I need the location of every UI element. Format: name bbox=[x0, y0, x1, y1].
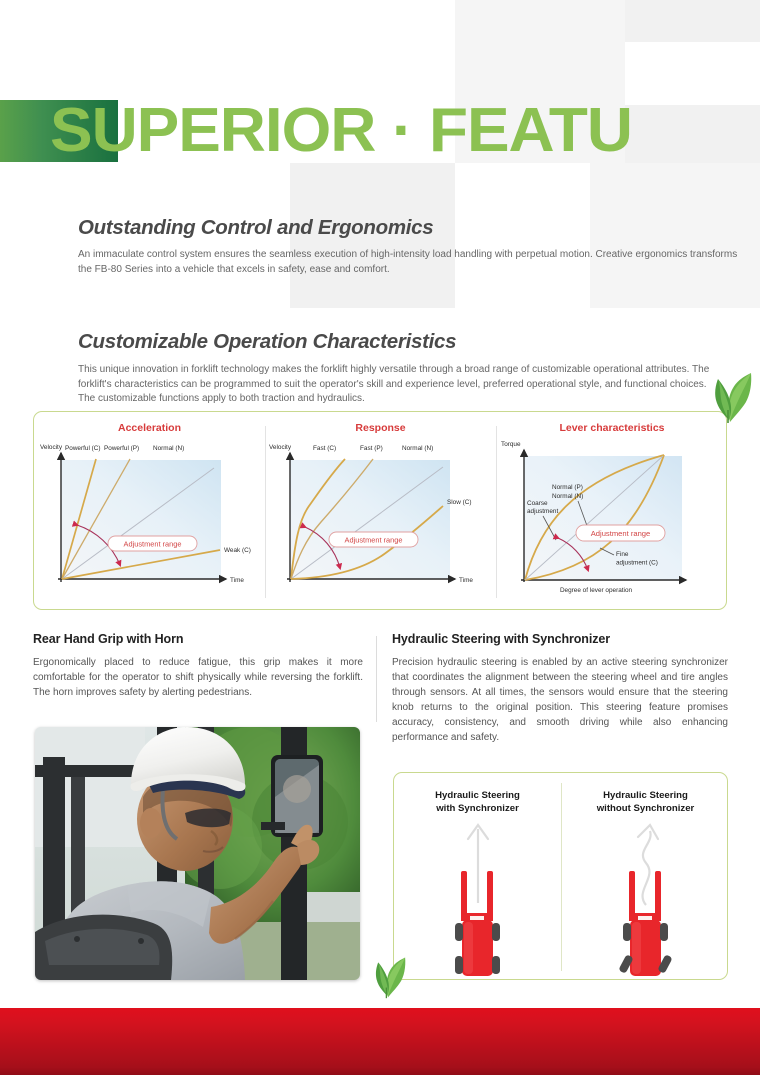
card-body: Precision hydraulic steering is enabled … bbox=[392, 655, 728, 745]
chart-lever-characteristics: Lever characteristics bbox=[496, 412, 728, 611]
card-heading: Hydraulic Steering with Synchronizer bbox=[392, 632, 728, 646]
leaf-icon bbox=[707, 370, 753, 429]
curve-label-fine-adjustment-2: adjustment (C) bbox=[616, 560, 658, 567]
section-body: This unique innovation in forklift techn… bbox=[78, 363, 718, 407]
card-rear-hand-grip: Rear Hand Grip with Horn Ergonomically p… bbox=[33, 632, 363, 700]
page-footer-bar bbox=[0, 1008, 760, 1075]
chart-response: Response bbox=[265, 412, 496, 611]
chart-acceleration-svg: Powerful (C) Powerful (P) Normal (N) Wea… bbox=[34, 412, 265, 611]
curve-label-fine-adjustment: Fine bbox=[616, 551, 629, 558]
y-axis-label: Velocity bbox=[269, 444, 292, 451]
section-body: An immaculate control system ensures the… bbox=[78, 248, 738, 277]
curve-label-normal-n: Normal (N) bbox=[552, 493, 583, 500]
section-outstanding-control: Outstanding Control and Ergonomics An im… bbox=[78, 216, 738, 277]
curve-label-normal-p: Normal (P) bbox=[552, 484, 583, 491]
customizable-characteristics-charts: Acceleration bbox=[33, 411, 727, 610]
curve-label-coarse-adjustment-2: adjustment bbox=[527, 508, 558, 515]
curve-label-powerful-p: Powerful (P) bbox=[104, 445, 139, 452]
chart-acceleration: Acceleration bbox=[34, 412, 265, 611]
curve-label-normal-n: Normal (N) bbox=[153, 445, 184, 452]
leaf-icon bbox=[368, 955, 408, 1004]
x-axis-label: Time bbox=[459, 577, 473, 584]
steer-panel-without-synchronizer: Hydraulic Steering without Synchronizer bbox=[562, 773, 729, 981]
steer-panel-with-synchronizer: Hydraulic Steering with Synchronizer bbox=[394, 773, 561, 981]
x-axis-label: Degree of lever operation bbox=[560, 587, 633, 594]
section-customizable-operation: Customizable Operation Characteristics T… bbox=[78, 330, 718, 407]
curve-label-fast-c: Fast (C) bbox=[313, 445, 336, 452]
y-axis-label: Velocity bbox=[40, 444, 63, 451]
section-heading: Customizable Operation Characteristics bbox=[78, 330, 718, 354]
card-heading: Rear Hand Grip with Horn bbox=[33, 632, 363, 646]
forklift-straight-svg bbox=[394, 773, 561, 981]
curve-label-weak-c: Weak (C) bbox=[224, 547, 251, 554]
chart-response-svg: Fast (C) Fast (P) Normal (N) Slow (C) Ve… bbox=[265, 412, 496, 611]
section-heading: Outstanding Control and Ergonomics bbox=[78, 216, 738, 240]
curve-label-normal-n: Normal (N) bbox=[402, 445, 433, 452]
curve-label-coarse-adjustment: Coarse bbox=[527, 500, 548, 507]
column-divider bbox=[376, 636, 377, 722]
forklift-wavy-svg bbox=[562, 773, 729, 981]
chart-annotation: Adjustment range bbox=[124, 540, 182, 549]
operator-photo bbox=[35, 727, 360, 980]
curve-label-powerful-c: Powerful (C) bbox=[65, 445, 101, 452]
card-body: Ergonomically placed to reduce fatigue, … bbox=[33, 655, 363, 700]
card-hydraulic-steering: Hydraulic Steering with Synchronizer Pre… bbox=[392, 632, 728, 745]
x-axis-label: Time bbox=[230, 577, 244, 584]
chart-annotation: Adjustment range bbox=[591, 529, 651, 538]
curve-label-slow-c: Slow (C) bbox=[447, 499, 472, 506]
curve-label-fast-p: Fast (P) bbox=[360, 445, 383, 452]
chart-annotation: Adjustment range bbox=[345, 536, 403, 545]
hydraulic-steering-diagram: Hydraulic Steering with Synchronizer bbox=[393, 772, 728, 980]
y-axis-label: Torque bbox=[501, 441, 521, 448]
chart-lever-svg: Normal (P) Normal (N) Coarse adjustment … bbox=[496, 412, 728, 611]
